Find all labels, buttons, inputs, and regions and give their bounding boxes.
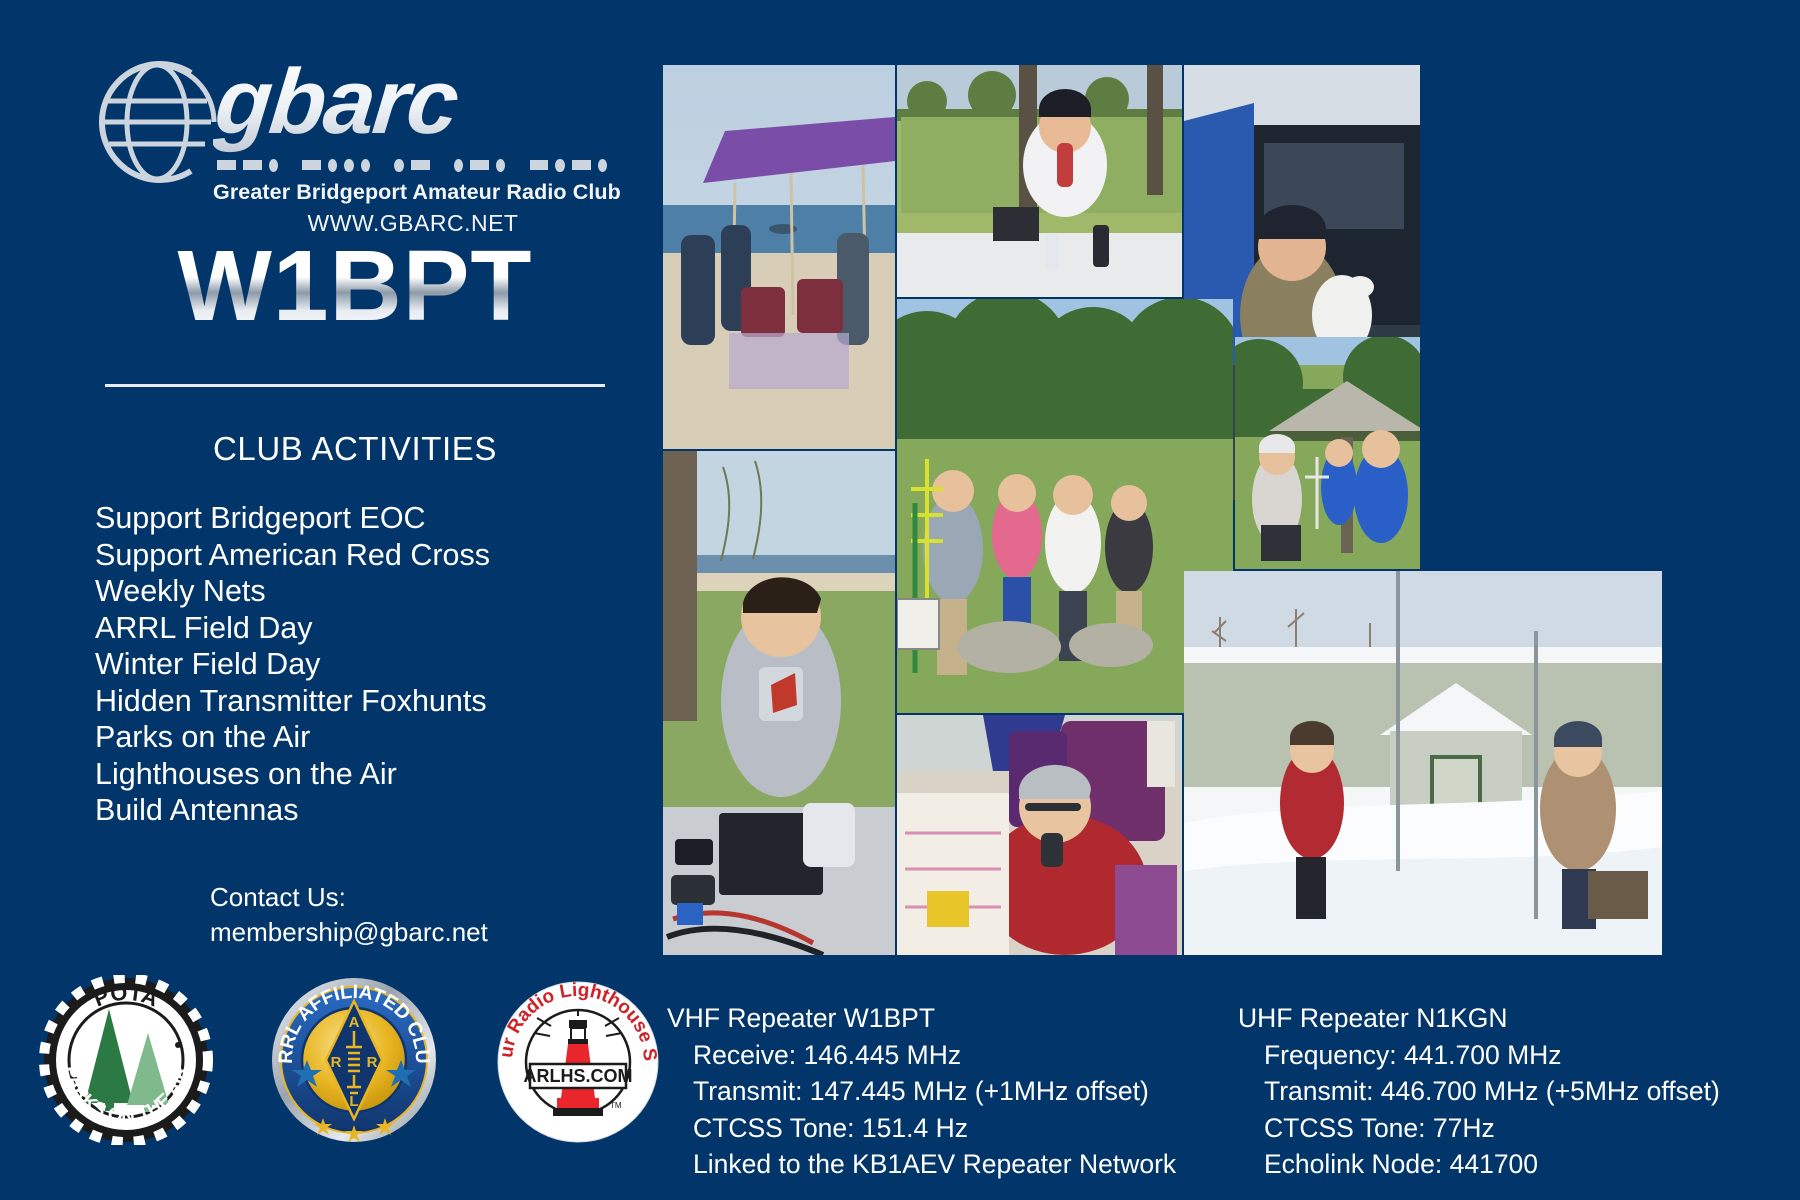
morse-dash xyxy=(411,160,430,170)
photo-beach-canopy-operators xyxy=(663,65,895,449)
list-item: Parks on the Air xyxy=(95,719,640,756)
photo-operator-pavilion-mic xyxy=(897,65,1182,297)
list-item: Build Antennas xyxy=(95,792,640,829)
vhf-repeater-line: Transmit: 147.445 MHz (+1MHz offset) xyxy=(667,1073,1176,1110)
vhf-repeater-line: Linked to the KB1AEV Repeater Network xyxy=(667,1146,1176,1183)
list-item: Support Bridgeport EOC xyxy=(95,500,640,537)
photo-group-foxhunt-antennas xyxy=(1235,337,1420,569)
list-item: Lighthouses on the Air xyxy=(95,756,640,793)
list-item: Hidden Transmitter Foxhunts xyxy=(95,683,640,720)
club-name: Greater Bridgeport Amateur Radio Club xyxy=(213,180,613,205)
photo-collage xyxy=(663,65,1720,955)
repeater-info: VHF Repeater W1BPT Receive: 146.445 MHz … xyxy=(0,1000,1800,1180)
uhf-repeater: UHF Repeater N1KGN Frequency: 441.700 MH… xyxy=(1238,1000,1720,1183)
photo-group-foxhunt-antennas xyxy=(897,299,1233,713)
morse-dot xyxy=(328,159,337,172)
vhf-repeater-heading: VHF Repeater W1BPT xyxy=(667,1000,1176,1037)
contact-label: Contact Us: xyxy=(210,880,488,915)
list-item: Weekly Nets xyxy=(95,573,640,610)
morse-dash xyxy=(217,160,236,170)
svg-text:gbarc: gbarc xyxy=(213,55,463,153)
list-item: Winter Field Day xyxy=(95,646,640,683)
uhf-repeater-heading: UHF Repeater N1KGN xyxy=(1238,1000,1720,1037)
morse-gap xyxy=(512,165,522,166)
morse-gap xyxy=(377,165,387,166)
photo-operator-red-jacket-chair xyxy=(897,715,1182,955)
section-divider xyxy=(105,384,605,387)
list-item: ARRL Field Day xyxy=(95,610,640,647)
vhf-repeater: VHF Repeater W1BPT Receive: 146.445 MHz … xyxy=(667,1000,1176,1183)
list-item: Support American Red Cross xyxy=(95,537,640,574)
callsign-glyphs: W1BPT xyxy=(178,230,533,340)
morse-dot xyxy=(598,159,607,172)
morse-code-strip xyxy=(217,155,607,175)
morse-dot xyxy=(496,159,505,172)
vhf-repeater-line: CTCSS Tone: 151.4 Hz xyxy=(667,1110,1176,1147)
morse-dot xyxy=(394,159,403,172)
morse-dash xyxy=(530,160,549,170)
morse-dash xyxy=(302,160,321,170)
vhf-repeater-line: Receive: 146.445 MHz xyxy=(667,1037,1176,1074)
globe-icon xyxy=(95,57,220,187)
photo-winter-field-day-snow xyxy=(1184,571,1662,955)
morse-gap xyxy=(285,165,295,166)
callsign: W1BPT xyxy=(95,228,615,340)
morse-dash xyxy=(572,160,591,170)
morse-dot xyxy=(361,159,370,172)
contact-block: Contact Us: membership@gbarc.net xyxy=(210,880,488,950)
morse-gap xyxy=(437,165,447,166)
activities-title: CLUB ACTIVITIES xyxy=(95,430,615,468)
uhf-repeater-line: CTCSS Tone: 77Hz xyxy=(1238,1110,1720,1147)
morse-dash xyxy=(470,160,489,170)
morse-dash xyxy=(243,160,262,170)
uhf-repeater-line: Frequency: 441.700 MHz xyxy=(1238,1037,1720,1074)
logo-wordmark: gbarc xyxy=(213,55,613,160)
contact-email[interactable]: membership@gbarc.net xyxy=(210,915,488,950)
activities-list: Support Bridgeport EOC Support American … xyxy=(95,500,640,829)
morse-dot xyxy=(555,159,564,172)
photo-youth-operator-handheld xyxy=(663,451,895,955)
club-logo: gbarc Greater Bridgeport Am xyxy=(95,55,615,220)
morse-dot xyxy=(344,159,353,172)
uhf-repeater-line: Transmit: 446.700 MHz (+5MHz offset) xyxy=(1238,1073,1720,1110)
uhf-repeater-line: Echolink Node: 441700 xyxy=(1238,1146,1720,1183)
morse-dot xyxy=(454,159,463,172)
morse-dot xyxy=(269,159,278,172)
